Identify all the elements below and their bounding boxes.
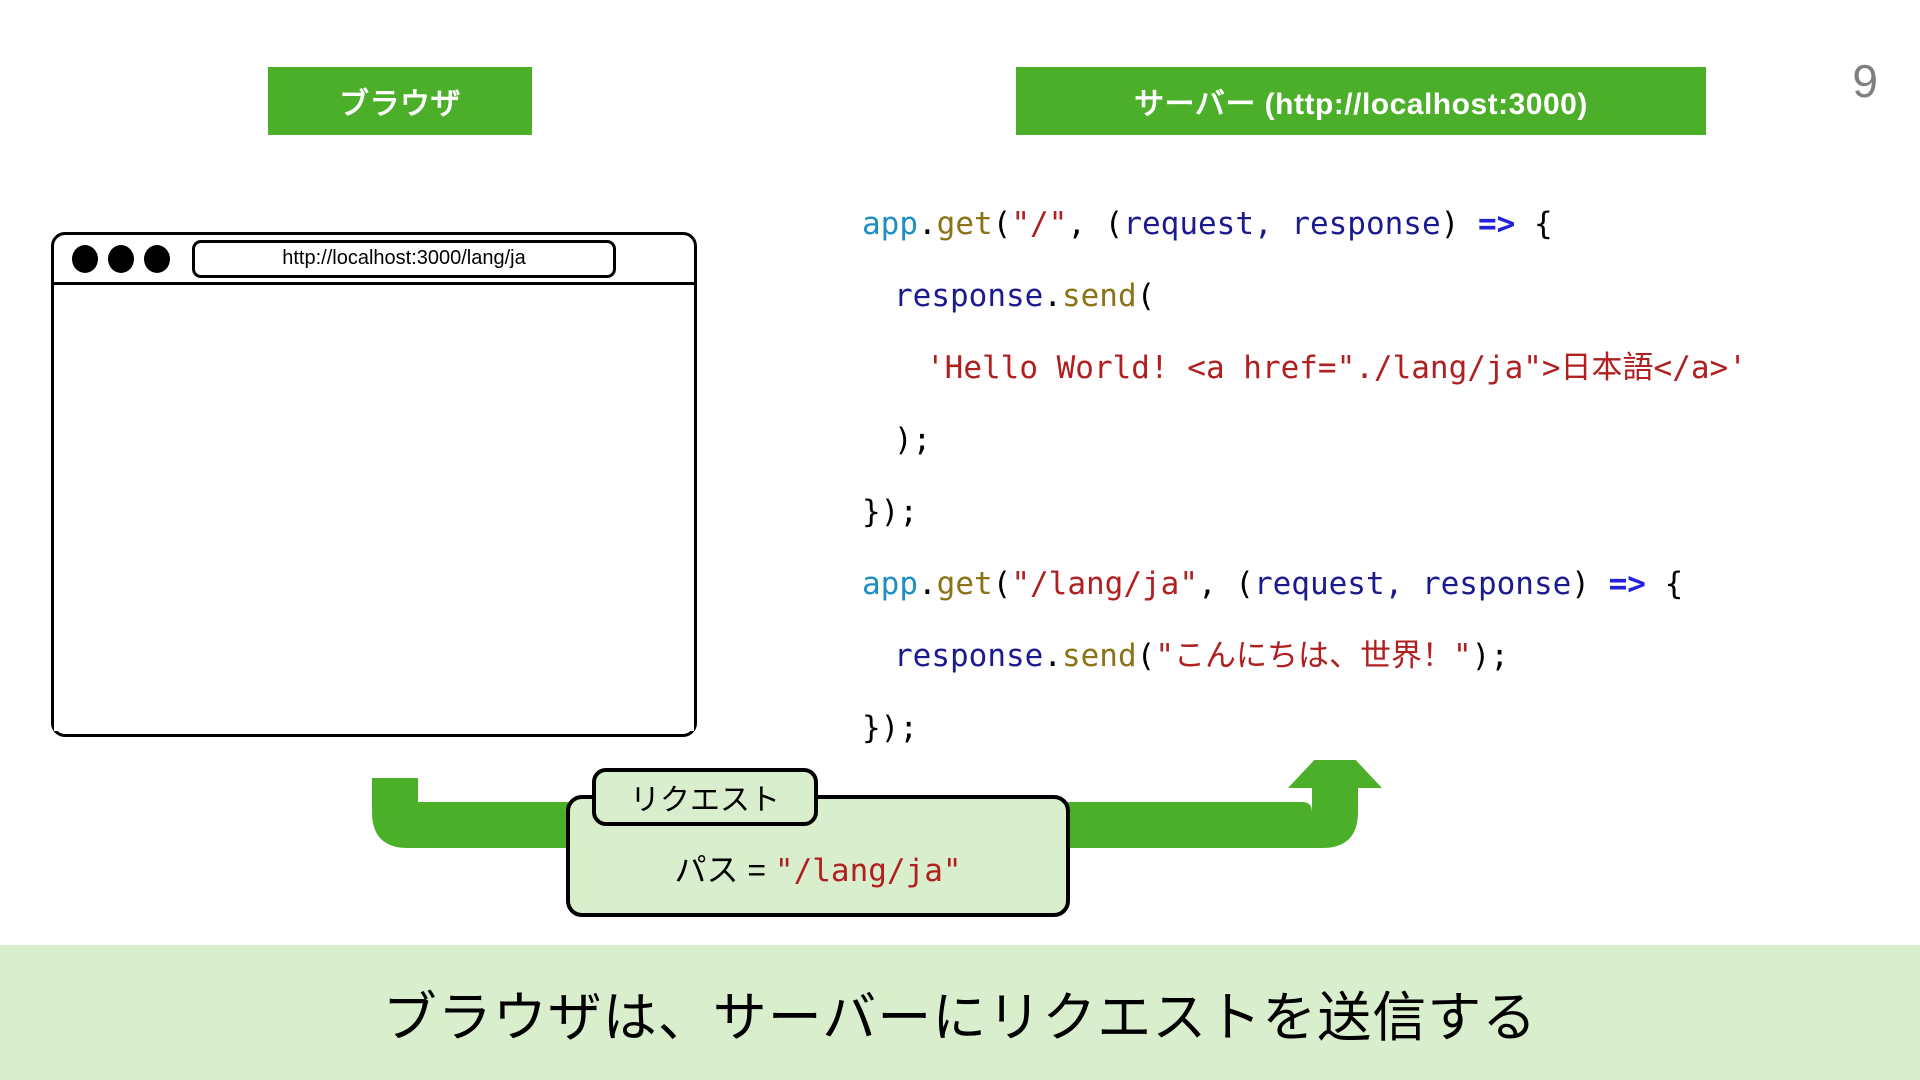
code-token-punct: ); (894, 422, 931, 458)
code-token-param: request, response (1254, 566, 1571, 602)
code-token-punct: , ( (1198, 566, 1254, 602)
code-token-punct: { (1515, 206, 1552, 242)
request-path-row: パス = "/lang/ja" (674, 845, 961, 891)
code-token-punct: ) (1441, 206, 1478, 242)
code-token-str: 'Hello World! <a href="./lang/ja">日本語</a… (926, 350, 1747, 386)
code-token-fn: send (1062, 638, 1137, 674)
url-address-bar[interactable]: http://localhost:3000/lang/ja (192, 240, 616, 278)
caption-bar: ブラウザは、サーバーにリクエストを送信する (0, 945, 1920, 1080)
code-token-punct: }); (862, 710, 918, 746)
code-token-punct: ); (1472, 638, 1509, 674)
window-minimize-dot-icon[interactable] (108, 245, 134, 273)
code-token-punct: ( (993, 206, 1012, 242)
code-token-fn: send (1062, 278, 1137, 314)
code-line: ); (862, 404, 1747, 476)
code-token-param: response (894, 278, 1043, 314)
request-path-value: "/lang/ja" (775, 853, 962, 889)
request-callout-tab-label: リクエスト (630, 775, 780, 819)
code-token-punct: . (1043, 638, 1062, 674)
code-token-arrow: => (1478, 206, 1515, 242)
code-token-punct: . (918, 566, 937, 602)
browser-window-mockup: http://localhost:3000/lang/ja (51, 232, 697, 737)
code-token-punct: { (1646, 566, 1683, 602)
code-token-punct: ( (1137, 638, 1156, 674)
code-line: app.get("/lang/ja", (request, response) … (862, 548, 1747, 620)
code-token-punct: }); (862, 494, 918, 530)
server-code-listing: app.get("/", (request, response) => {res… (862, 188, 1747, 764)
code-token-fn: get (937, 206, 993, 242)
code-token-punct: ) (1571, 566, 1608, 602)
browser-viewport (54, 285, 694, 731)
request-callout-tab: リクエスト (592, 768, 818, 826)
code-token-str: "/lang/ja" (1011, 566, 1198, 602)
code-token-param: response (894, 638, 1043, 674)
code-token-punct: . (918, 206, 937, 242)
code-token-fn: get (937, 566, 993, 602)
window-close-dot-icon[interactable] (72, 245, 98, 273)
server-header-label: サーバー (http://localhost:3000) (1134, 79, 1588, 123)
code-token-str: "こんにちは、世界！" (1155, 638, 1471, 674)
code-token-punct: , ( (1067, 206, 1123, 242)
code-token-str: "/" (1011, 206, 1067, 242)
browser-titlebar: http://localhost:3000/lang/ja (54, 235, 694, 285)
caption-text: ブラウザは、サーバーにリクエストを送信する (383, 973, 1537, 1052)
code-token-punct: . (1043, 278, 1062, 314)
code-line: }); (862, 476, 1747, 548)
window-maximize-dot-icon[interactable] (144, 245, 170, 273)
url-text: http://localhost:3000/lang/ja (282, 247, 526, 270)
code-token-arrow: => (1609, 566, 1646, 602)
code-token-punct: ( (993, 566, 1012, 602)
code-token-param: request, response (1123, 206, 1440, 242)
browser-header-banner: ブラウザ (268, 67, 532, 135)
code-line: }); (862, 692, 1747, 764)
code-line: response.send( (862, 260, 1747, 332)
browser-header-label: ブラウザ (339, 79, 461, 123)
code-token-punct: ( (1137, 278, 1156, 314)
page-number: 9 (1852, 54, 1878, 108)
request-path-label: パス = (674, 852, 774, 888)
server-header-banner: サーバー (http://localhost:3000) (1016, 67, 1706, 135)
code-token-obj: app (862, 206, 918, 242)
code-line: response.send("こんにちは、世界！"); (862, 620, 1747, 692)
code-token-obj: app (862, 566, 918, 602)
code-line: app.get("/", (request, response) => { (862, 188, 1747, 260)
code-line: 'Hello World! <a href="./lang/ja">日本語</a… (862, 332, 1747, 404)
